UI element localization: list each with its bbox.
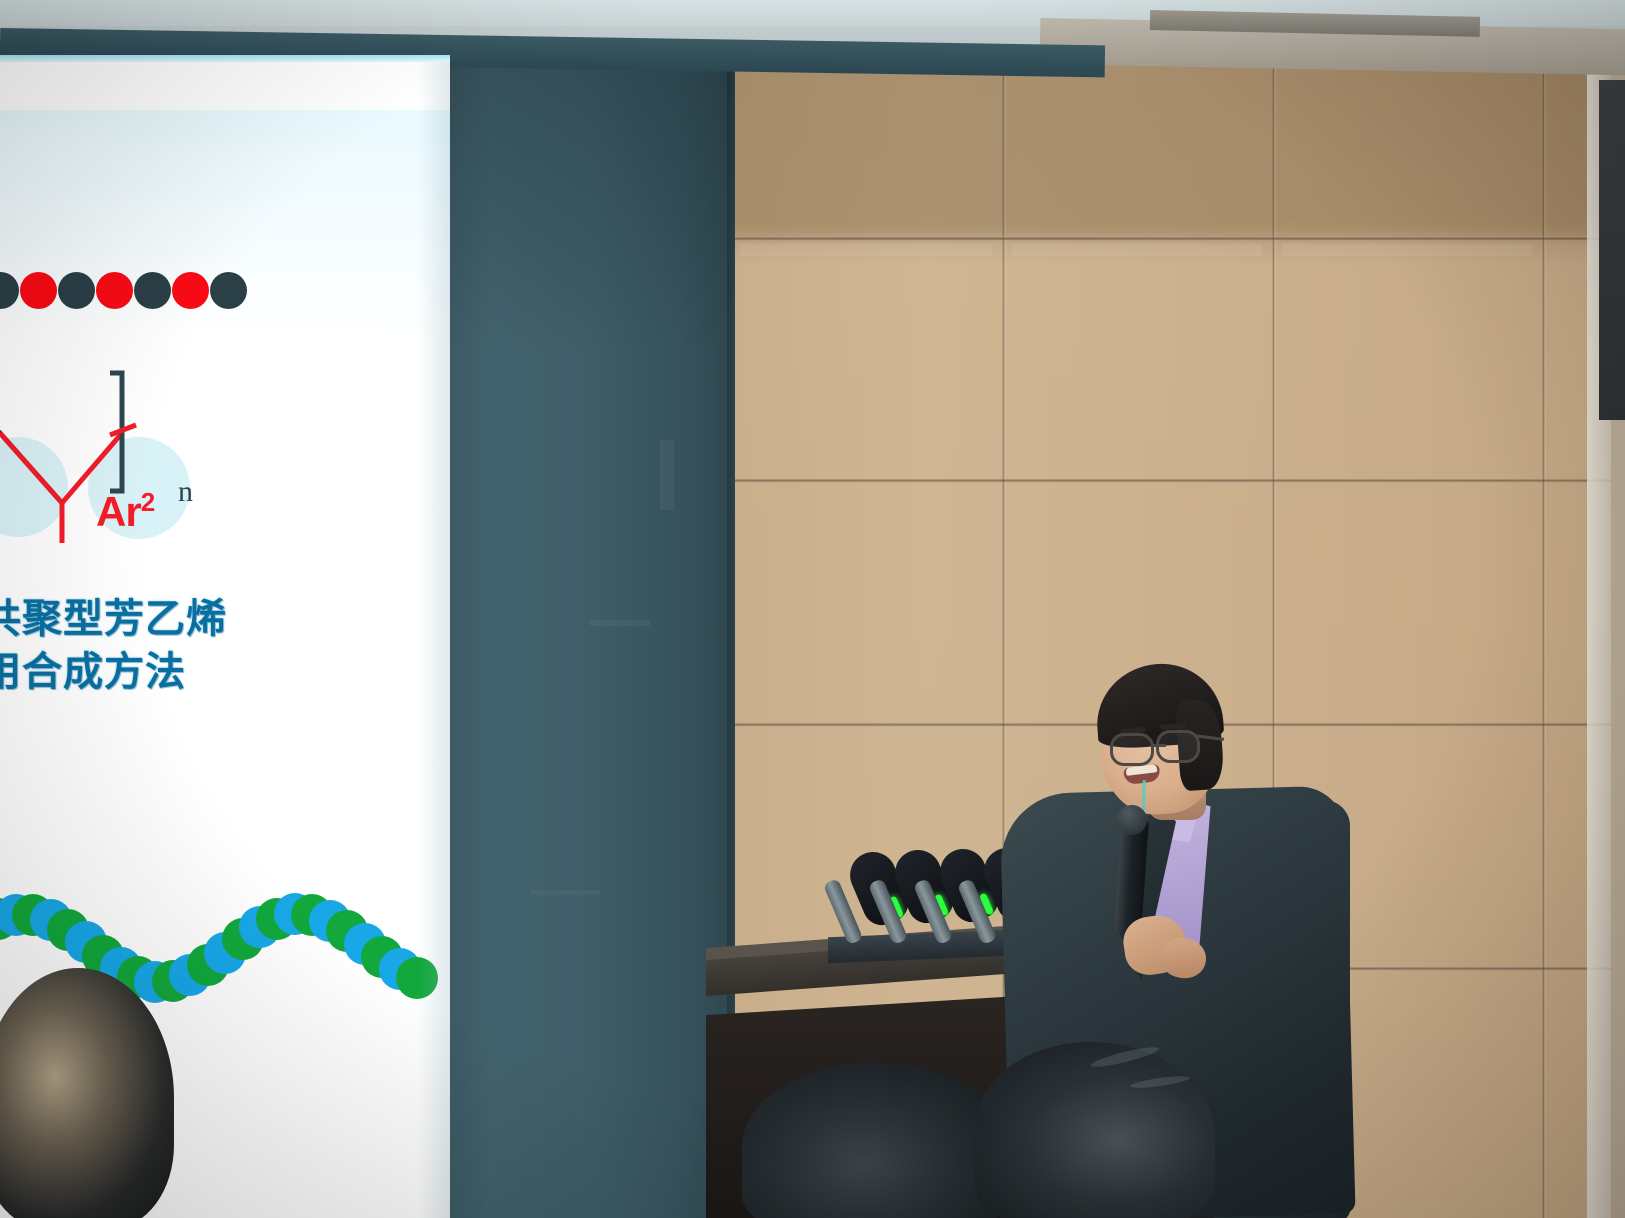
bead [134, 272, 171, 309]
panel-seam-vertical [1542, 0, 1546, 1218]
slide-title-line2: 通用合成方法 [0, 646, 300, 699]
panel-seam-horizontal [730, 478, 1625, 483]
wall-right-dark-fixture [1599, 80, 1625, 420]
presentation-photo-scene: r1 Ar2 n 替共聚型芳乙烯 通用合成方法 5. [0, 0, 1625, 1218]
panel-seam-horizontal [730, 236, 1625, 241]
slide-title: 替共聚型芳乙烯 通用合成方法 [0, 593, 300, 699]
bead [58, 272, 95, 309]
screen-top-glow [0, 55, 450, 62]
slide-title-line1: 替共聚型芳乙烯 [0, 593, 300, 646]
bead [96, 272, 133, 309]
ar2-label: Ar2 [96, 487, 154, 536]
column-streak [590, 620, 650, 626]
repeat-unit-subscript: n [178, 475, 193, 509]
column-streak [660, 440, 674, 510]
screen-right-shadow [418, 62, 450, 1218]
panel-highlight [1282, 244, 1532, 256]
glasses-bridge [1152, 744, 1166, 747]
audience-head [742, 1062, 1010, 1218]
panel-highlight [740, 244, 992, 256]
column-top-shadow [437, 52, 735, 352]
bead [172, 272, 209, 309]
glasses-lens-left [1110, 733, 1154, 766]
bead [210, 272, 247, 309]
bead [20, 272, 57, 309]
bead [0, 272, 19, 309]
column-streak [530, 890, 600, 895]
alternating-copolymer-bead-row [0, 272, 247, 309]
panel-highlight [1012, 244, 1262, 256]
